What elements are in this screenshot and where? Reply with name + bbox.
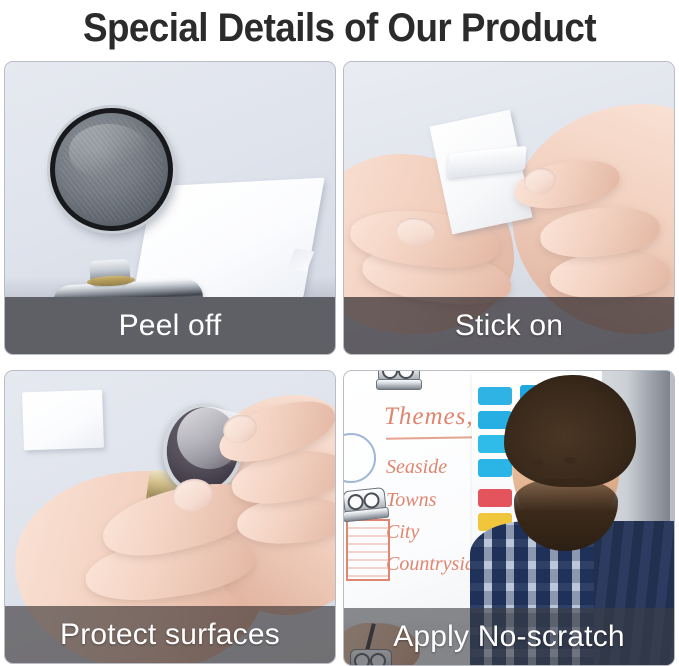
- panel-caption: Protect surfaces: [5, 606, 335, 663]
- whiteboard-heading: Themes,: [384, 403, 474, 431]
- sticky-note: [478, 489, 512, 507]
- magnet-clip-bar: [376, 379, 422, 390]
- whiteboard-list-item: Towns: [386, 489, 436, 512]
- presenter-eye: [564, 457, 577, 464]
- product-step-panel-peel-off[interactable]: Peel off: [4, 61, 336, 355]
- presenter-eye: [530, 459, 543, 466]
- product-step-panel-apply-no-scratch[interactable]: Themes, Seaside Towns City Countryside: [343, 370, 675, 666]
- magnet-disc-sheen: [69, 124, 148, 178]
- page-title: Special Details of Our Product: [27, 2, 652, 54]
- sticky-note: [478, 459, 512, 477]
- spare-protective-pad: [22, 390, 104, 451]
- whiteboard-list-item: City: [386, 521, 419, 544]
- product-detail-infographic: Special Details of Our Product Peel off: [0, 0, 679, 664]
- city-building-sketch-icon: [346, 519, 390, 581]
- magnet-clip: [378, 371, 422, 391]
- whiteboard-list-item: Seaside: [386, 456, 447, 479]
- panel-caption: Apply No-scratch: [344, 608, 674, 665]
- magnet-disc: [50, 108, 173, 231]
- product-step-panel-protect-surfaces[interactable]: Protect surfaces: [4, 370, 336, 664]
- magnet-clip: [344, 487, 390, 523]
- panel-caption: Peel off: [5, 297, 335, 354]
- sun-sketch-icon: [344, 433, 376, 483]
- product-step-panel-stick-on[interactable]: Stick on: [343, 61, 675, 355]
- sticky-note: [478, 387, 512, 405]
- panel-caption: Stick on: [344, 297, 674, 354]
- whiteboard-heading-underline: [386, 436, 478, 440]
